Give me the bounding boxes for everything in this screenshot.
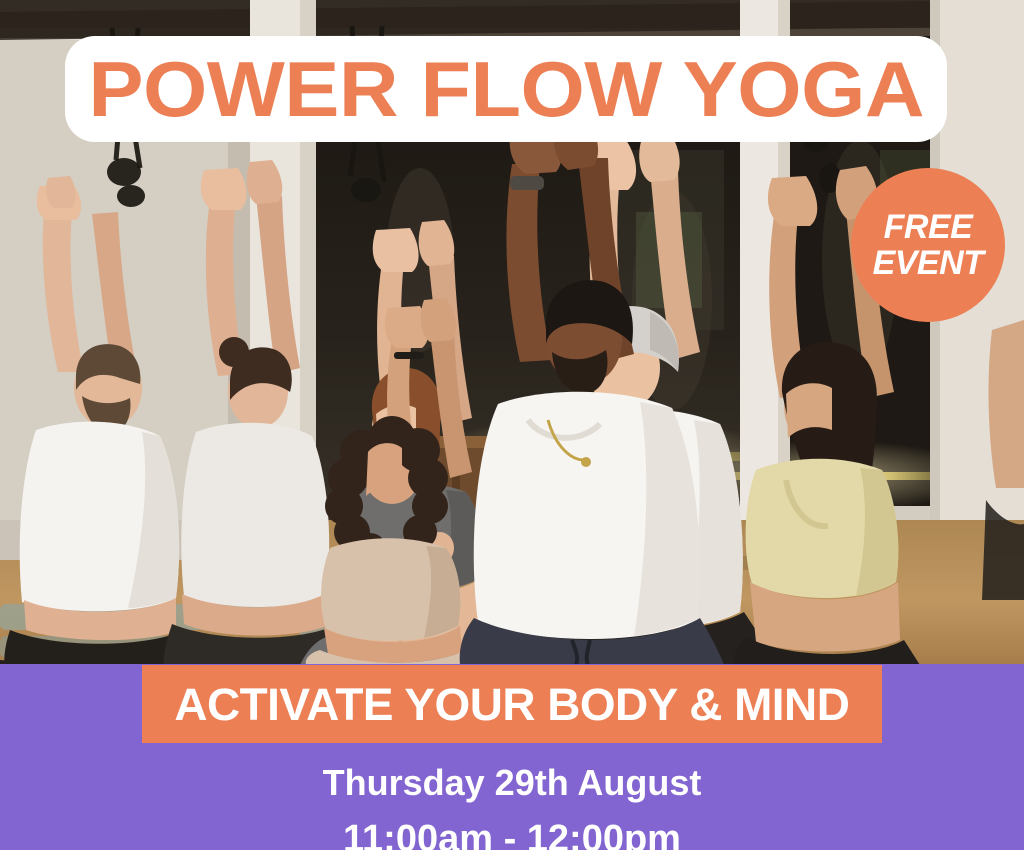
event-date: Thursday 29th August bbox=[0, 765, 1024, 801]
yoga-event-poster: POWER FLOW YOGA FREE EVENT ACTIVATE YOUR… bbox=[0, 0, 1024, 850]
event-time: 11:00am - 12:00pm bbox=[0, 820, 1024, 850]
free-event-badge: FREE EVENT bbox=[851, 168, 1005, 322]
page-title: POWER FLOW YOGA bbox=[88, 50, 924, 128]
subtitle-bar: ACTIVATE YOUR BODY & MIND bbox=[142, 665, 882, 743]
subtitle-text: ACTIVATE YOUR BODY & MIND bbox=[175, 682, 850, 727]
badge-line-free: FREE bbox=[884, 209, 973, 245]
badge-line-event: EVENT bbox=[873, 245, 984, 281]
title-banner: POWER FLOW YOGA bbox=[65, 36, 947, 142]
